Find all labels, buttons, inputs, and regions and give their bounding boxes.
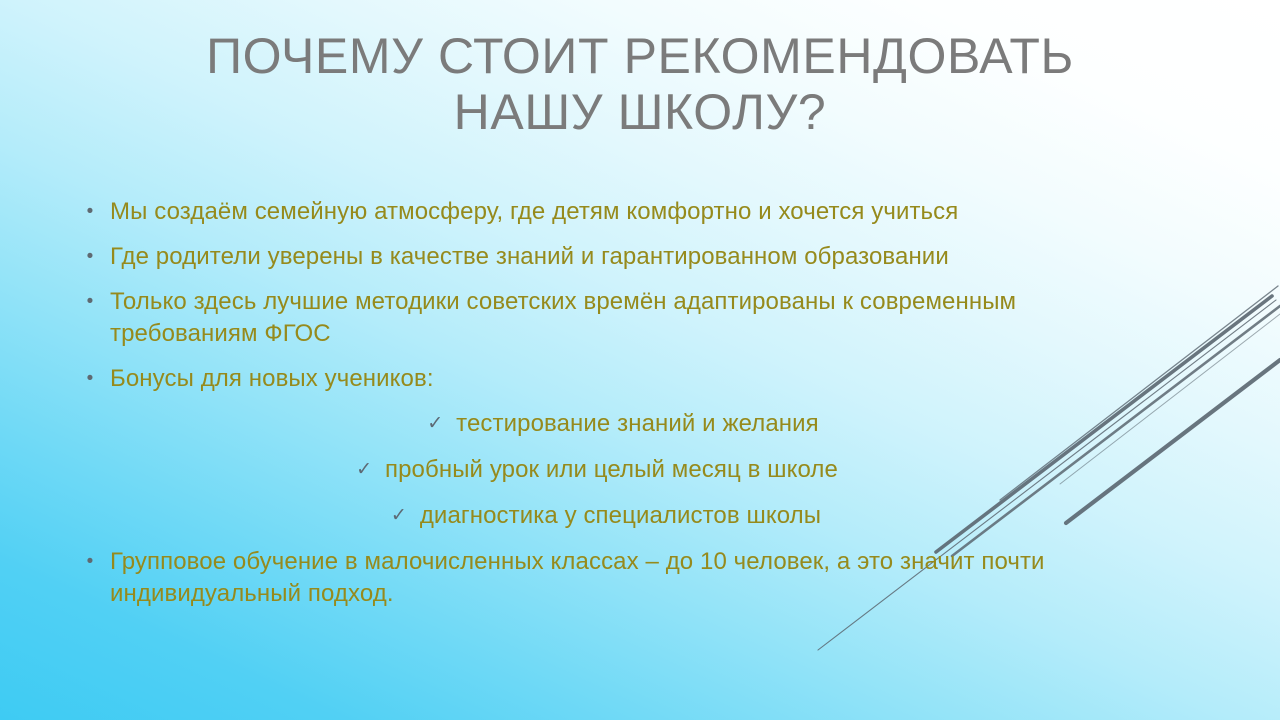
bullet-dot-icon: • [62,286,110,318]
slide-body-list: • Мы создаём семейную атмосферу, где дет… [62,196,1132,623]
bullet-dot-icon: • [62,241,110,273]
check-icon: ✓ [391,500,407,531]
list-item: • Только здесь лучшие методики советских… [62,286,1132,350]
sub-list-item-text: тестирование знаний и желания [456,408,819,439]
bonus-sub-list: ✓ тестирование знаний и желания ✓ пробны… [62,408,1132,531]
list-item: • Групповое обучение в малочисленных кла… [62,546,1132,610]
list-item: • Где родители уверены в качестве знаний… [62,241,1132,273]
list-item-text: Где родители уверены в качестве знаний и… [110,241,1132,273]
list-item-text: Групповое обучение в малочисленных класс… [110,546,1132,610]
presentation-slide: ПОЧЕМУ СТОИТ РЕКОМЕНДОВАТЬ НАШУ ШКОЛУ? •… [0,0,1280,720]
bullet-dot-icon: • [62,546,110,578]
list-item-text: Только здесь лучшие методики советских в… [110,286,1132,350]
sub-list-item: ✓ тестирование знаний и желания [62,408,1132,439]
sub-list-item-text: пробный урок или целый месяц в школе [385,454,838,485]
list-item: • Мы создаём семейную атмосферу, где дет… [62,196,1132,228]
slide-title-line-2: НАШУ ШКОЛУ? [0,84,1280,140]
sub-list-item-text: диагностика у специалистов школы [420,500,821,531]
list-item: • Бонусы для новых учеников: [62,363,1132,395]
slide-title: ПОЧЕМУ СТОИТ РЕКОМЕНДОВАТЬ НАШУ ШКОЛУ? [0,28,1280,140]
check-icon: ✓ [356,454,372,485]
bullet-dot-icon: • [62,363,110,395]
check-icon: ✓ [427,408,443,439]
sub-list-item: ✓ диагностика у специалистов школы [62,500,1132,531]
bullet-dot-icon: • [62,196,110,228]
sub-list-item: ✓ пробный урок или целый месяц в школе [62,454,1132,485]
list-item-text: Бонусы для новых учеников: [110,363,1132,395]
list-item-text: Мы создаём семейную атмосферу, где детям… [110,196,1132,228]
slide-title-line-1: ПОЧЕМУ СТОИТ РЕКОМЕНДОВАТЬ [0,28,1280,84]
